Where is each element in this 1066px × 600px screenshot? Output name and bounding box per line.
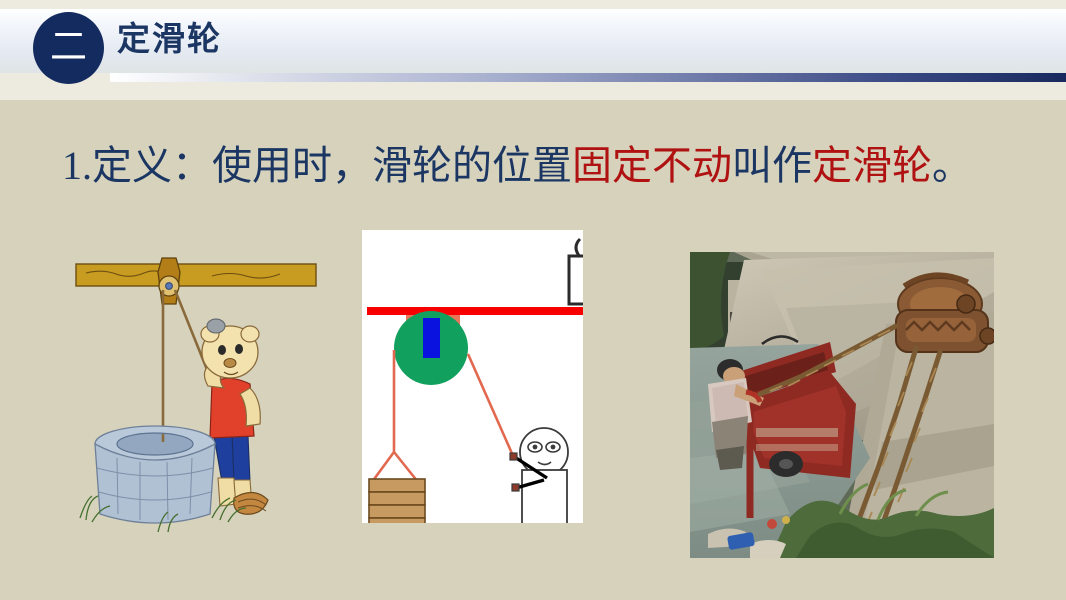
wooden-beam-icon: [76, 264, 316, 286]
figure-cartoon-well-pulley: [62, 246, 342, 546]
load-blocks-icon: [369, 479, 425, 523]
statement-segment-5: 。: [932, 143, 972, 188]
header-rule: [110, 73, 1066, 82]
pulley-axle-icon: [423, 318, 440, 358]
section-number-badge: 二: [33, 12, 104, 84]
stone-well-icon: [95, 426, 215, 523]
statement-segment-3: 叫作: [732, 143, 812, 188]
figure-canal-rescue-photo: [690, 252, 994, 558]
statement-segment-1: 1.定义：使用时，滑轮的位置: [62, 143, 572, 188]
header-bottom-strip: [0, 82, 1066, 100]
statement-segment-2-highlight: 固定不动: [572, 143, 732, 188]
section-number-label: 二: [50, 29, 87, 66]
definition-statement: 1.定义：使用时，滑轮的位置固定不动叫作定滑轮。: [62, 141, 1022, 191]
ceiling-bar-icon: [367, 307, 583, 315]
page-title: 定滑轮: [117, 24, 222, 57]
statement-segment-4-highlight: 定滑轮: [812, 143, 932, 188]
header-top-strip: [0, 0, 1066, 9]
figure-fixed-pulley-schematic: [362, 230, 583, 523]
slide-root: 二 定滑轮 1.定义：使用时，滑轮的位置固定不动叫作定滑轮。: [0, 0, 1066, 600]
